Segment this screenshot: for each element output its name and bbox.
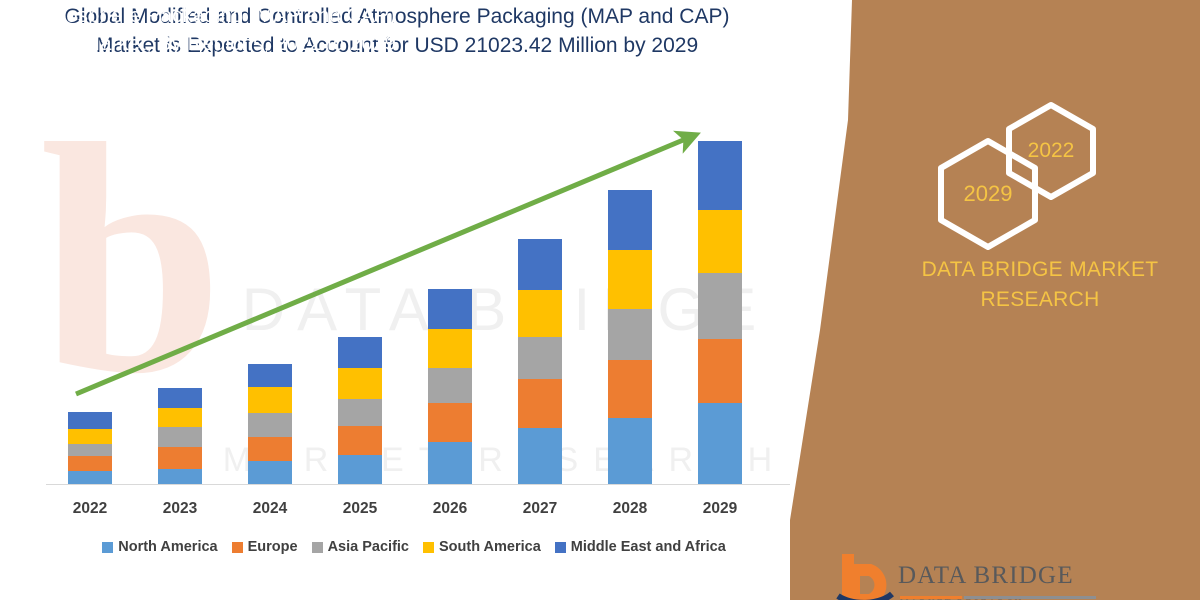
legend-label: South America — [439, 539, 541, 555]
legend-item-asia-pacific[interactable]: Asia Pacific — [312, 539, 409, 555]
legend-item-middle-east-and-africa[interactable]: Middle East and Africa — [555, 539, 726, 555]
brand-line-1: DATA BRIDGE MARKET — [890, 255, 1190, 285]
legend-swatch-icon — [312, 542, 323, 553]
hexagon-badge-2029-label: 2029 — [964, 181, 1013, 207]
legend-label: Europe — [248, 539, 298, 555]
legend-item-south-america[interactable]: South America — [423, 539, 541, 555]
legend-label: Middle East and Africa — [571, 539, 726, 555]
data-bridge-logo: DATA BRIDGE MARKET RESEARCH — [836, 552, 1166, 600]
logo-wordmark: DATA BRIDGE — [898, 562, 1074, 590]
legend-label: North America — [118, 539, 217, 555]
brand-line-2: RESEARCH — [890, 285, 1190, 315]
legend-swatch-icon — [423, 542, 434, 553]
hexagon-badge-2022-label: 2022 — [1028, 139, 1075, 163]
legend-swatch-icon — [102, 542, 113, 553]
hexagon-badge-2022: 2022 — [1005, 101, 1097, 201]
legend-swatch-icon — [232, 542, 243, 553]
brand-name: DATA BRIDGE MARKET RESEARCH — [890, 255, 1190, 315]
infographic-canvas: b DATA BRIDGE MARKET RESEARCH Global Mod… — [0, 0, 1200, 600]
panel-title: Atmosphere Packaging (MAP and CAP) Marke… — [18, 2, 396, 58]
chart-legend: North AmericaEuropeAsia PacificSouth Ame… — [44, 539, 784, 555]
stacked-bar-chart: 20222023202420252026202720282029 — [0, 0, 800, 600]
logo-b-mark-icon — [836, 552, 894, 600]
legend-swatch-icon — [555, 542, 566, 553]
legend-item-europe[interactable]: Europe — [232, 539, 298, 555]
legend-label: Asia Pacific — [328, 539, 409, 555]
growth-arrow-icon — [0, 0, 800, 600]
legend-item-north-america[interactable]: North America — [102, 539, 217, 555]
